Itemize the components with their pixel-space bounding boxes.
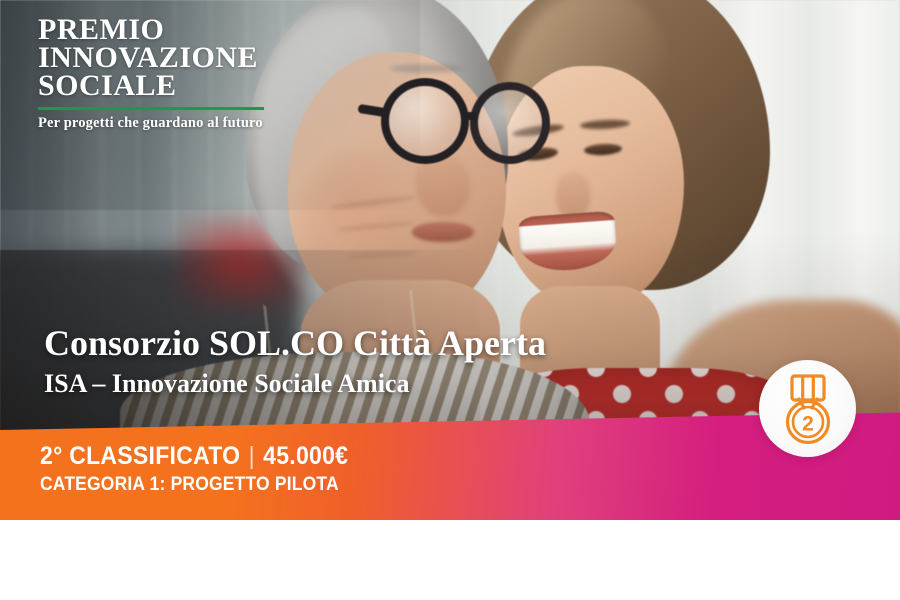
award-rank-row: 2° CLASSIFICATO|45.000€ <box>40 442 348 471</box>
organization-name: Consorzio SOL.CO Città Aperta <box>44 322 764 364</box>
medal-icon: 2 <box>777 372 839 446</box>
medal-badge: 2 <box>759 360 856 457</box>
award-category: CATEGORIA 1: PROGETTO PILOTA <box>40 473 348 497</box>
sponsor-footer: cdp fondazione INTESA SANPAOLO <box>0 520 900 600</box>
brand-tagline: Per progetti che guardano al futuro <box>38 115 278 132</box>
project-name: ISA – Innovazione Sociale Amica <box>44 367 764 401</box>
award-titles: Consorzio SOL.CO Città Aperta ISA – Inno… <box>44 322 764 401</box>
brand-line-innovazione: INNOVAZIONE <box>38 44 278 72</box>
medal-rank-number: 2 <box>802 412 814 435</box>
young-woman-nose <box>556 172 590 218</box>
elderly-woman-nose <box>416 155 470 217</box>
brand-line-premio: PREMIO <box>38 16 278 44</box>
eyeglasses-lens-right <box>470 82 550 164</box>
award-banner-text: 2° CLASSIFICATO|45.000€ CATEGORIA 1: PRO… <box>40 442 375 497</box>
brand-line-sociale: SOCIALE <box>38 72 278 100</box>
award-prize: 45.000€ <box>263 442 348 470</box>
eyeglasses-bridge <box>466 112 476 120</box>
award-card: PREMIO INNOVAZIONE SOCIALE Per progetti … <box>0 0 900 600</box>
award-separator: | <box>240 442 263 471</box>
brand-divider <box>38 107 264 110</box>
award-rank: 2° CLASSIFICATO <box>40 442 240 470</box>
brand-logo: PREMIO INNOVAZIONE SOCIALE Per progetti … <box>38 16 278 132</box>
